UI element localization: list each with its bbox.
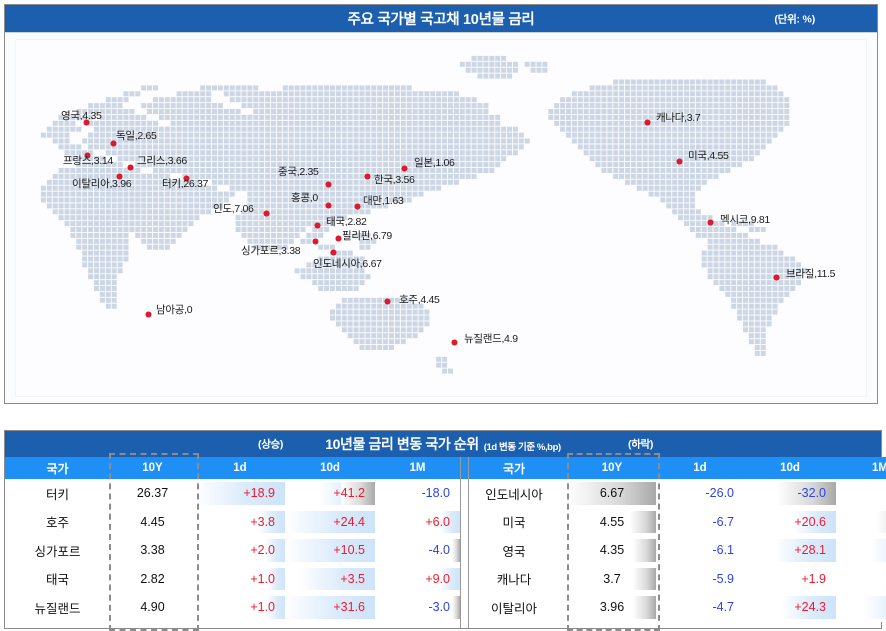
cell-1m: -3.0 xyxy=(375,593,460,622)
map-label-17: 미국,4.55 xyxy=(688,151,729,162)
map-label-18: 멕시코,9.81 xyxy=(720,215,770,226)
cell-1d: -5.9 xyxy=(656,565,744,594)
table-row[interactable]: 미국4.55-6.7+20.6-4.0 xyxy=(460,508,886,537)
cell-1m: -1.0 xyxy=(836,479,886,508)
cell-1d: +18.9 xyxy=(195,479,285,508)
cell-1m: -4.0 xyxy=(375,536,460,565)
gap-divider-right xyxy=(468,457,469,628)
cell-10d: +1.9 xyxy=(744,565,836,594)
cell-10d: -32.0 xyxy=(744,479,836,508)
cell-10d: +24.3 xyxy=(744,593,836,622)
falling-table: 국가10Y1d10d1M인도네시아6.67-26.0-32.0-1.0미국4.5… xyxy=(460,457,886,622)
cell-1d: +1.0 xyxy=(195,593,285,622)
cell-10y: 4.45 xyxy=(110,508,195,537)
cell-1d: +3.8 xyxy=(195,508,285,537)
rising-table-wrap: 국가10Y1d10d1M터키26.37+18.9+41.2-18.0호주4.45… xyxy=(5,457,460,628)
map-label-19: 브라질,11.5 xyxy=(786,269,835,280)
cell-country: 뉴질랜드 xyxy=(5,593,110,622)
cell-10y: 2.82 xyxy=(110,565,195,594)
table-row[interactable]: 영국4.35-6.1+28.1+5.0 xyxy=(460,536,886,565)
table-row[interactable]: 터키26.37+18.9+41.2-18.0 xyxy=(5,479,460,508)
col-header-10d[interactable]: 10d xyxy=(744,457,836,479)
map-label-11: 인도,7.06 xyxy=(213,204,254,215)
rising-table: 국가10Y1d10d1M터키26.37+18.9+41.2-18.0호주4.45… xyxy=(5,457,460,622)
map-body: 영국,4.35독일,2.65프랑스,3.14그리스,3.66이탈리아,3.96터… xyxy=(5,32,877,403)
map-label-16: 캐나다,3.7 xyxy=(656,113,700,124)
table-row[interactable]: 뉴질랜드4.90+1.0+31.6-3.0 xyxy=(5,593,460,622)
ranking-subtitle: (1d 변동 기준 %,bp) xyxy=(484,436,561,453)
col-header-국가[interactable]: 국가 xyxy=(460,457,568,479)
ranking-title-bar: 10년물 금리 변동 국가 순위 (1d 변동 기준 %,bp) (상승) (하… xyxy=(5,431,881,457)
cell-country: 싱가포르 xyxy=(5,536,110,565)
map-label-9: 홍콩,0 xyxy=(291,193,318,204)
table-row[interactable]: 태국2.82+1.0+3.5+9.0 xyxy=(5,565,460,594)
dashboard-page: 주요 국가별 국고채 10년물 금리 (단위: %) 영국,4.35독일,2.6… xyxy=(0,0,886,631)
col-header-10y[interactable]: 10Y xyxy=(110,457,195,479)
cell-1d: -4.7 xyxy=(656,593,744,622)
cell-country: 태국 xyxy=(5,565,110,594)
col-header-1d[interactable]: 1d xyxy=(656,457,744,479)
map-dot-15 xyxy=(331,250,336,255)
map-label-4: 이탈리아,3.96 xyxy=(72,179,131,190)
cell-10y: 6.67 xyxy=(568,479,656,508)
map-label-2: 프랑스,3.14 xyxy=(63,156,113,167)
cell-country: 호주 xyxy=(5,508,110,537)
ranking-title: 10년물 금리 변동 국가 순위 xyxy=(325,434,479,454)
map-unit-label: (단위: %) xyxy=(774,11,815,26)
cell-country: 미국 xyxy=(460,508,568,537)
col-header-1m[interactable]: 1M xyxy=(375,457,460,479)
cell-10d: +41.2 xyxy=(285,479,375,508)
map-title: 주요 국가별 국고채 10년물 금리 xyxy=(348,8,535,29)
falling-table-wrap: 국가10Y1d10d1M인도네시아6.67-26.0-32.0-1.0미국4.5… xyxy=(460,457,886,628)
cell-country: 캐나다 xyxy=(460,565,568,594)
col-header-10d[interactable]: 10d xyxy=(285,457,375,479)
map-dot-7 xyxy=(402,166,407,171)
map-label-15: 인도네시아,6.67 xyxy=(313,259,382,270)
map-dot-11 xyxy=(264,211,269,216)
map-dot-3 xyxy=(128,165,133,170)
map-label-3: 그리스,3.66 xyxy=(137,156,187,167)
cell-1m: +6.0 xyxy=(375,508,460,537)
cell-10y: 3.96 xyxy=(568,593,656,622)
cell-10d: +31.6 xyxy=(285,593,375,622)
map-dot-16 xyxy=(645,120,650,125)
cell-1m: +5.0 xyxy=(836,536,886,565)
map-label-5: 터키,26.37 xyxy=(162,179,208,190)
map-label-6: 중국,2.35 xyxy=(278,167,319,178)
cell-10d: +3.5 xyxy=(285,565,375,594)
cell-10y: 4.35 xyxy=(568,536,656,565)
cell-10y: 4.55 xyxy=(568,508,656,537)
map-dot-20 xyxy=(146,312,151,317)
table-row[interactable]: 호주4.45+3.8+24.4+6.0 xyxy=(5,508,460,537)
map-label-14: 싱가포르,3.38 xyxy=(241,246,300,257)
cell-country: 이탈리아 xyxy=(460,593,568,622)
table-row[interactable]: 이탈리아3.96-4.7+24.3+8.0 xyxy=(460,593,886,622)
map-dot-8 xyxy=(365,174,370,179)
map-dot-22 xyxy=(452,340,457,345)
cell-1m: -3.0 xyxy=(836,565,886,594)
cell-10d: +24.4 xyxy=(285,508,375,537)
map-title-bar: 주요 국가별 국고채 10년물 금리 (단위: %) xyxy=(5,5,877,32)
map-dot-21 xyxy=(385,299,390,304)
col-header-1m[interactable]: 1M xyxy=(836,457,886,479)
map-label-1: 독일,2.65 xyxy=(116,131,157,142)
map-label-10: 대만,1.63 xyxy=(363,196,404,207)
cell-country: 영국 xyxy=(460,536,568,565)
map-label-12: 태국,2.82 xyxy=(326,217,367,228)
ranking-grids: 국가10Y1d10d1M터키26.37+18.9+41.2-18.0호주4.45… xyxy=(5,457,881,628)
ranking-panel: 10년물 금리 변동 국가 순위 (1d 변동 기준 %,bp) (상승) (하… xyxy=(4,430,882,629)
col-header-국가[interactable]: 국가 xyxy=(5,457,110,479)
cell-10d: +28.1 xyxy=(744,536,836,565)
map-label-13: 필리핀,6.79 xyxy=(342,231,392,242)
map-label-7: 일본,1.06 xyxy=(414,158,455,169)
map-dot-13 xyxy=(336,236,341,241)
rising-section-label: (상승) xyxy=(258,437,283,452)
map-label-0: 영국,4.35 xyxy=(61,111,102,122)
cell-country: 터키 xyxy=(5,479,110,508)
table-row[interactable]: 싱가포르3.38+2.0+10.5-4.0 xyxy=(5,536,460,565)
map-dot-10 xyxy=(355,204,360,209)
map-label-20: 남아공,0 xyxy=(156,305,192,316)
map-dot-9 xyxy=(326,203,331,208)
map-label-22: 뉴질랜드,4.9 xyxy=(464,334,518,345)
cell-1m: +9.0 xyxy=(375,565,460,594)
cell-1d: +2.0 xyxy=(195,536,285,565)
table-row[interactable]: 인도네시아6.67-26.0-32.0-1.0 xyxy=(460,479,886,508)
map-dot-6 xyxy=(326,182,331,187)
table-row[interactable]: 캐나다3.7-5.9+1.9-3.0 xyxy=(460,565,886,594)
cell-1m: -4.0 xyxy=(836,508,886,537)
cell-1d: +1.0 xyxy=(195,565,285,594)
cell-10y: 3.7 xyxy=(568,565,656,594)
cell-1d: -26.0 xyxy=(656,479,744,508)
cell-10y: 26.37 xyxy=(110,479,195,508)
map-dot-14 xyxy=(313,239,318,244)
gap-divider-left xyxy=(460,457,461,628)
map-canvas: 영국,4.35독일,2.65프랑스,3.14그리스,3.66이탈리아,3.96터… xyxy=(15,39,867,397)
map-dot-17 xyxy=(677,159,682,164)
cell-10d: +10.5 xyxy=(285,536,375,565)
cell-10y: 4.90 xyxy=(110,593,195,622)
cell-1d: -6.7 xyxy=(656,508,744,537)
cell-1m: +8.0 xyxy=(836,593,886,622)
map-panel: 주요 국가별 국고채 10년물 금리 (단위: %) 영국,4.35독일,2.6… xyxy=(4,4,878,404)
cell-10y: 3.38 xyxy=(110,536,195,565)
cell-country: 인도네시아 xyxy=(460,479,568,508)
cell-1d: -6.1 xyxy=(656,536,744,565)
map-dot-18 xyxy=(708,220,713,225)
map-label-8: 한국,3.56 xyxy=(374,175,415,186)
col-header-1d[interactable]: 1d xyxy=(195,457,285,479)
cell-10d: +20.6 xyxy=(744,508,836,537)
col-header-10y[interactable]: 10Y xyxy=(568,457,656,479)
map-label-21: 호주,4.45 xyxy=(399,295,440,306)
map-dot-19 xyxy=(774,275,779,280)
falling-section-label: (하락) xyxy=(628,437,653,452)
map-dot-12 xyxy=(315,223,320,228)
cell-1m: -18.0 xyxy=(375,479,460,508)
